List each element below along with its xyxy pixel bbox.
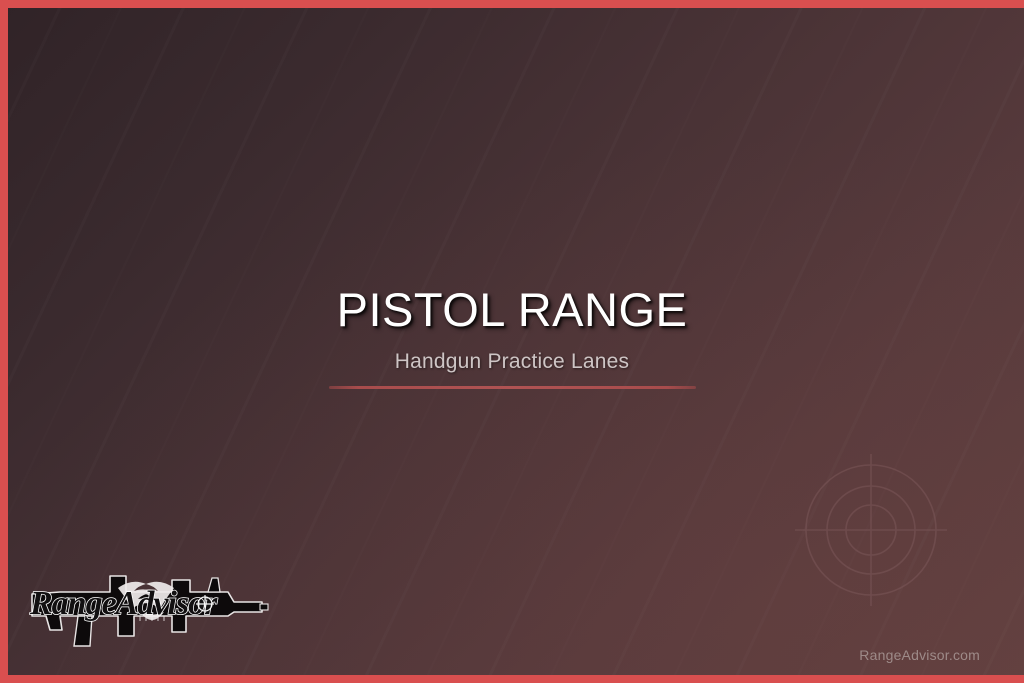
title-block: PISTOL RANGE Handgun Practice Lanes [0,283,1024,376]
brand-wordmark: RangeAdvisor [29,585,218,622]
brand-logo: RangeAdvisor [22,558,270,654]
site-watermark: RangeAdvisor.com [859,647,980,663]
page-title: PISTOL RANGE [0,283,1024,337]
accent-divider [329,386,696,389]
page-subtitle: Handgun Practice Lanes [0,348,1024,376]
slide-canvas: PISTOL RANGE Handgun Practice Lanes [0,0,1024,683]
border-accent-bottom [0,675,1024,683]
border-accent-top [0,0,1024,8]
border-accent-left [0,0,8,683]
